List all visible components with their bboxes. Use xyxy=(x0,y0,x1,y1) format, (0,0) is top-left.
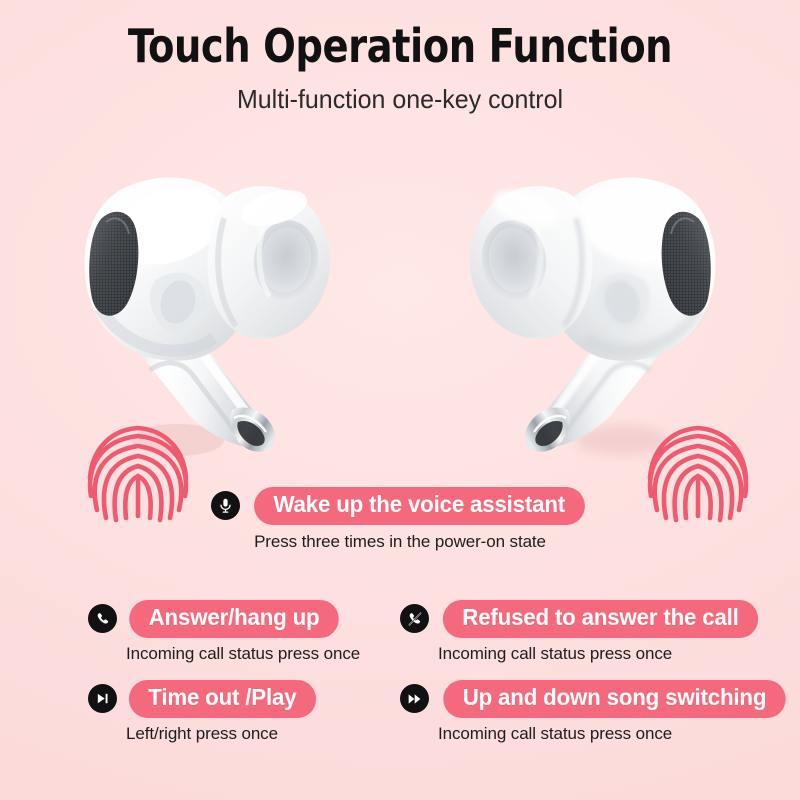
feature-sub: Incoming call status press once xyxy=(438,724,770,744)
feature-song-switching: Up and down song switching Incoming call… xyxy=(400,680,770,744)
product-image-group xyxy=(0,140,800,480)
earbud-silicone-tip xyxy=(207,183,330,338)
page-subtitle: Multi-function one-key control xyxy=(16,84,784,115)
earbud-silicone-tip xyxy=(470,183,593,338)
feature-label: Answer/hang up xyxy=(129,600,339,638)
promo-banner: Touch Operation Function Multi-function … xyxy=(0,0,800,800)
feature-label: Up and down song switching xyxy=(443,680,785,718)
page-title: Touch Operation Function xyxy=(28,22,772,70)
feature-label: Refused to answer the call xyxy=(443,600,758,638)
microphone-icon xyxy=(211,491,240,520)
feature-label: Time out /Play xyxy=(129,680,316,718)
earbud-stem-tip xyxy=(230,407,275,451)
phone-decline-icon xyxy=(400,604,429,633)
phone-handset-icon xyxy=(88,604,117,633)
fast-forward-icon xyxy=(400,684,429,713)
skip-next-icon xyxy=(88,684,117,713)
feature-list: Answer/hang up Incoming call status pres… xyxy=(0,600,800,800)
feature-refuse-call: Refused to answer the call Incoming call… xyxy=(400,600,770,664)
feature-voice-assistant: Wake up the voice assistant Press three … xyxy=(0,487,800,552)
voice-assistant-sub: Press three times in the power-on state xyxy=(0,532,800,552)
header: Touch Operation Function Multi-function … xyxy=(0,0,800,115)
voice-assistant-label: Wake up the voice assistant xyxy=(254,487,584,525)
feature-sub: Incoming call status press once xyxy=(438,644,770,664)
earbud-stem-tip xyxy=(525,407,570,451)
